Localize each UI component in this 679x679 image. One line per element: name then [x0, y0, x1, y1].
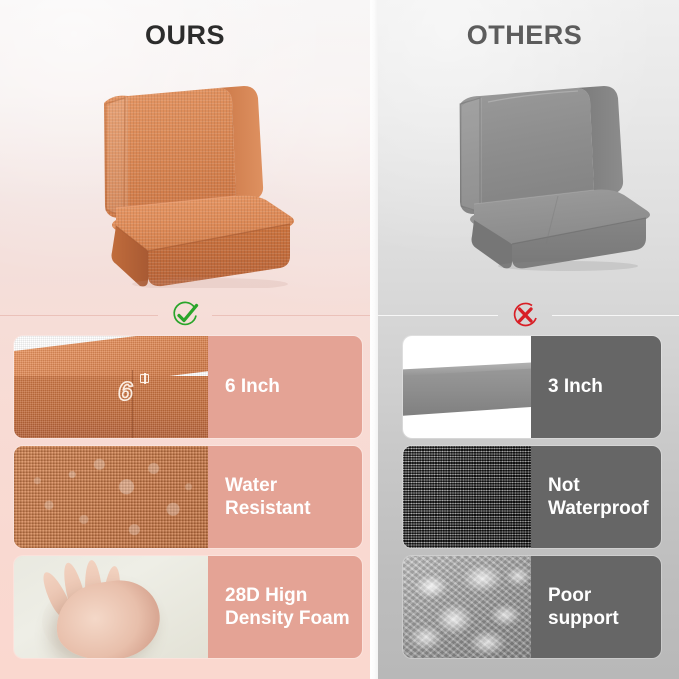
ours-title: OURS [0, 20, 370, 51]
ours-feature-label-thickness: 6 Inch [208, 336, 362, 438]
others-feature-card-support: Poor support [403, 556, 661, 658]
others-divider [370, 314, 679, 316]
others-feature-label-thickness: 3 Inch [531, 336, 661, 438]
ours-feature-label-water: Water Resistant [208, 446, 362, 548]
ours-feature-card-thickness: 6 6 Inch [14, 336, 362, 438]
others-hero-image [428, 58, 658, 280]
hand-pressing-foam-image [14, 556, 208, 658]
gray-cushion-illustration [428, 58, 658, 280]
orange-cushion-thickness-image: 6 [14, 336, 208, 438]
others-feature-card-waterproof: Not Waterproof [403, 446, 661, 548]
divider-line-left [0, 315, 158, 316]
ours-divider [0, 314, 370, 316]
others-feature-label-waterproof: Not Waterproof [531, 446, 661, 548]
divider-line-right [552, 315, 679, 316]
others-feature-label-support: Poor support [531, 556, 661, 658]
ours-hero-image [58, 58, 308, 288]
orange-cushion-illustration [58, 58, 308, 288]
ours-panel: OURS [0, 0, 370, 679]
others-title: OTHERS [370, 20, 679, 51]
cross-circle-icon [508, 298, 542, 332]
ours-feature-card-foam: 28D Hign Density Foam [14, 556, 362, 658]
divider-line-left [370, 315, 498, 316]
others-feature-card-thickness: 3 Inch [403, 336, 661, 438]
ours-feature-card-water: Water Resistant [14, 446, 362, 548]
panel-separator [370, 0, 378, 679]
gray-cushion-thickness-image [403, 336, 531, 438]
loose-fiber-fill-image [403, 556, 531, 658]
dark-mesh-fabric-image [403, 446, 531, 548]
ours-feature-label-foam: 28D Hign Density Foam [208, 556, 362, 658]
others-feature-list: 3 Inch Not Waterproof Poor support [403, 336, 661, 666]
orange-fabric-water-droplets-image [14, 446, 208, 548]
others-panel: OTHERS [370, 0, 679, 679]
comparison-infographic: OURS [0, 0, 679, 679]
check-circle-icon [168, 298, 202, 332]
ours-feature-list: 6 6 Inch Water Resistant 28D Hign [14, 336, 362, 666]
divider-line-right [212, 315, 370, 316]
